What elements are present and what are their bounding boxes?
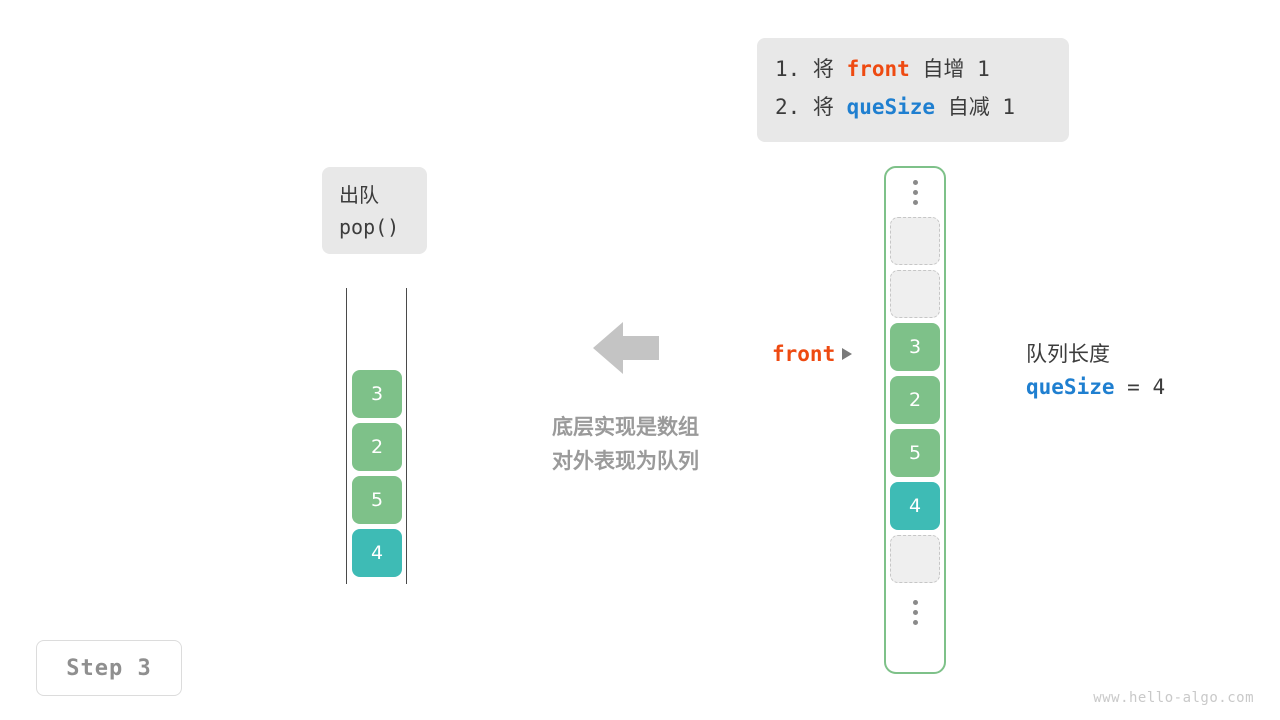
- queue-cell: 4: [352, 529, 402, 577]
- instruction-line-1: 1. 将 front 自增 1: [775, 50, 1051, 88]
- queue-cell-list: 3 2 5 4: [352, 370, 402, 582]
- quesize-keyword: queSize: [847, 95, 936, 119]
- array-cell: 5: [890, 429, 940, 477]
- array-cell: 2: [890, 376, 940, 424]
- caption-line-2: 对外表现为队列: [528, 444, 723, 478]
- instruction-box: 1. 将 front 自增 1 2. 将 queSize 自减 1: [757, 38, 1069, 142]
- pointer-arrow-icon: [842, 348, 852, 360]
- step-badge: Step 3: [36, 640, 182, 696]
- diagram-canvas: 1. 将 front 自增 1 2. 将 queSize 自减 1 出队 pop…: [0, 0, 1280, 720]
- queue-size-note: 队列长度 queSize = 4: [1026, 338, 1165, 404]
- queue-cell: 3: [352, 370, 402, 418]
- array-physical-view: 3 2 5 4: [884, 166, 946, 674]
- queue-cell: 2: [352, 423, 402, 471]
- queue-rail-left: [346, 288, 347, 584]
- queue-cell: 5: [352, 476, 402, 524]
- queue-rail-right: [406, 288, 407, 584]
- queue-size-title: 队列长度: [1026, 338, 1165, 370]
- pop-title: 出队: [339, 179, 427, 211]
- array-cell: 4: [890, 482, 940, 530]
- instruction-2-prefix: 2. 将: [775, 95, 847, 119]
- quesize-value: 4: [1152, 375, 1165, 399]
- pop-method: pop(): [339, 211, 427, 243]
- array-cell-empty: [890, 217, 940, 265]
- ellipsis-bottom-icon: [913, 588, 918, 637]
- array-cell-empty: [890, 535, 940, 583]
- array-cell-list: 3 2 5 4: [890, 217, 940, 588]
- diagram-caption: 底层实现是数组 对外表现为队列: [528, 410, 723, 478]
- front-pointer: front: [772, 342, 852, 366]
- pop-operation-label: 出队 pop(): [322, 167, 427, 254]
- left-arrow-icon: [593, 320, 659, 381]
- quesize-var: queSize: [1026, 375, 1115, 399]
- watermark: www.hello-algo.com: [1093, 690, 1254, 706]
- instruction-2-suffix: 自减 1: [935, 95, 1015, 119]
- ellipsis-top-icon: [913, 168, 918, 217]
- queue-size-expression: queSize = 4: [1026, 370, 1165, 404]
- front-pointer-label: front: [772, 342, 835, 366]
- quesize-equals: =: [1115, 375, 1153, 399]
- front-keyword: front: [847, 57, 910, 81]
- array-cell: 3: [890, 323, 940, 371]
- array-cell-empty: [890, 270, 940, 318]
- instruction-1-prefix: 1. 将: [775, 57, 847, 81]
- instruction-line-2: 2. 将 queSize 自减 1: [775, 88, 1051, 126]
- caption-line-1: 底层实现是数组: [528, 410, 723, 444]
- instruction-1-suffix: 自增 1: [910, 57, 990, 81]
- queue-logical-view: 3 2 5 4: [346, 288, 408, 584]
